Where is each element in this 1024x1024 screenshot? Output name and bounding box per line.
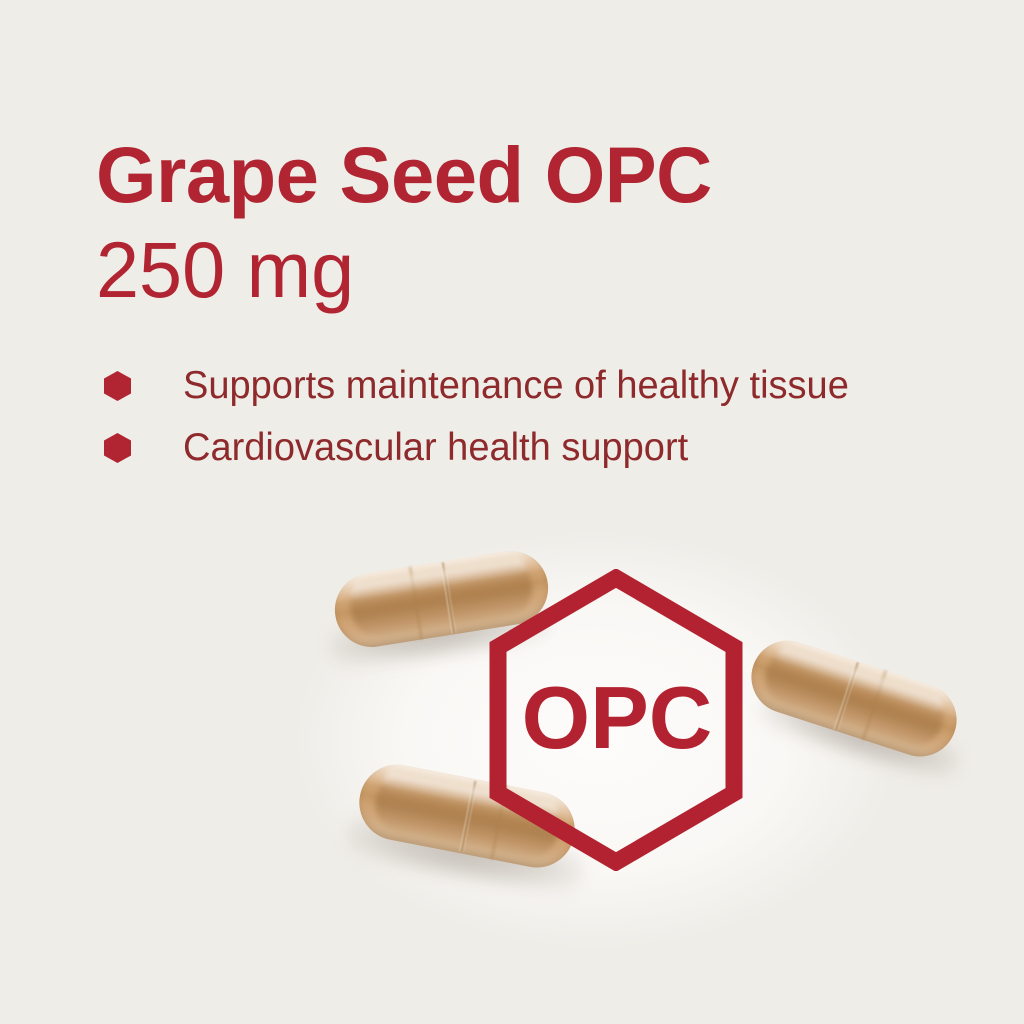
page-title: Grape Seed OPC bbox=[96, 133, 712, 217]
list-item: Cardiovascular health support bbox=[104, 417, 866, 479]
benefits-list: Supports maintenance of healthy tissue C… bbox=[104, 355, 866, 479]
hexagon-bullet-icon bbox=[104, 433, 131, 463]
dosage-subtitle: 250 mg bbox=[96, 228, 354, 312]
benefit-label: Cardiovascular health support bbox=[183, 427, 688, 469]
benefit-label: Supports maintenance of healthy tissue bbox=[183, 365, 849, 407]
opc-badge: OPC bbox=[481, 569, 751, 871]
product-marketing-image: Grape Seed OPC 250 mg Supports maintenan… bbox=[0, 0, 1024, 1024]
badge-label: OPC bbox=[481, 569, 751, 871]
list-item: Supports maintenance of healthy tissue bbox=[104, 355, 866, 417]
hexagon-bullet-icon bbox=[104, 371, 131, 401]
